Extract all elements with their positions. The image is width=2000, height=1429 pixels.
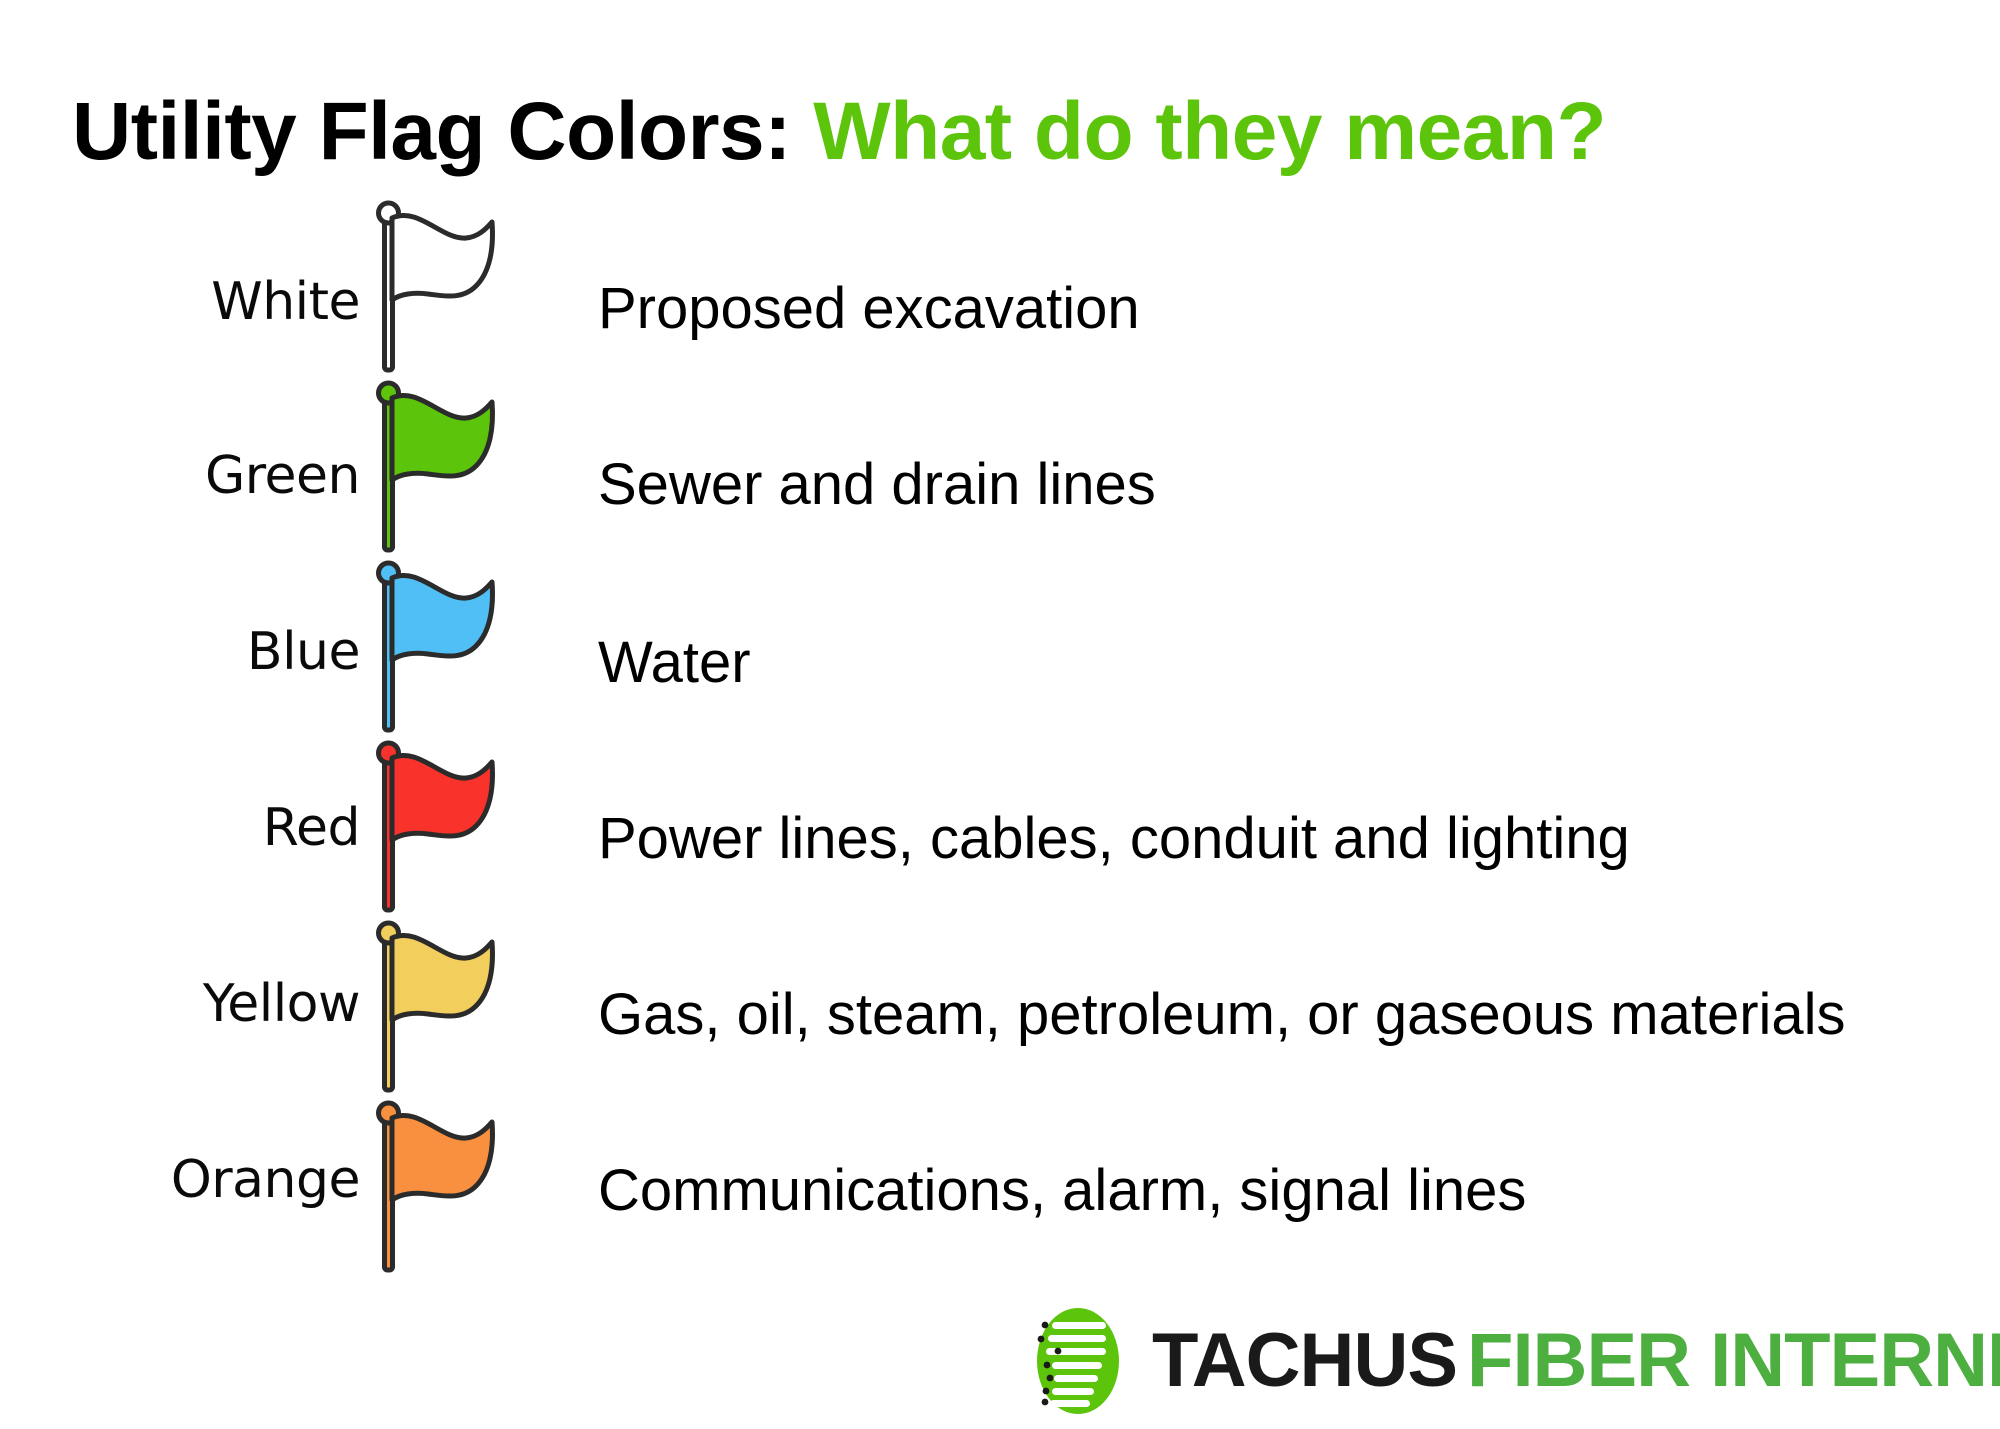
- flag-orange-icon: [366, 1096, 506, 1276]
- flag-description: Proposed excavation: [598, 218, 1140, 398]
- flag-color-label: White: [211, 212, 360, 392]
- flag-green-icon: [366, 376, 506, 556]
- page-title: Utility Flag Colors: What do they mean?: [72, 89, 1952, 176]
- tachus-logo: TACHUSFIBER INTERNET: [1022, 1306, 2000, 1416]
- logo-brand: TACHUS: [1152, 1318, 1457, 1403]
- logo-tagline: FIBER INTERNET: [1457, 1318, 2000, 1403]
- list-item: White Proposed excavation: [0, 196, 2000, 376]
- list-item: Blue Water: [0, 556, 2000, 736]
- page-title-lead: Utility Flag Colors:: [72, 86, 791, 177]
- flag-color-label: Green: [205, 386, 360, 566]
- flag-description: Sewer and drain lines: [598, 394, 1156, 574]
- flag-color-label: Orange: [171, 1090, 360, 1270]
- list-item: Orange Communications, alarm, signal lin…: [0, 1096, 2000, 1276]
- flag-color-label: Blue: [247, 562, 360, 742]
- flag-white-icon: [366, 196, 506, 376]
- flag-description: Communications, alarm, signal lines: [598, 1100, 1526, 1280]
- flag-color-label: Red: [263, 738, 360, 918]
- flag-description: Power lines, cables, conduit and lightin…: [598, 748, 1630, 928]
- flag-red-icon: [366, 736, 506, 916]
- page-title-highlight: What do they mean?: [813, 86, 1606, 177]
- flag-description: Water: [598, 572, 751, 752]
- tachus-fiber-mark-icon: [1022, 1306, 1134, 1416]
- flag-yellow-icon: [366, 916, 506, 1096]
- flag-description: Gas, oil, steam, petroleum, or gaseous m…: [598, 924, 1846, 1104]
- list-item: Green Sewer and drain lines: [0, 376, 2000, 556]
- flag-color-label: Yellow: [203, 914, 360, 1094]
- list-item: Red Power lines, cables, conduit and lig…: [0, 736, 2000, 916]
- flag-legend-list: White Proposed excavation Green Sewer an…: [0, 196, 2000, 1276]
- list-item: Yellow Gas, oil, steam, petroleum, or ga…: [0, 916, 2000, 1096]
- flag-blue-icon: [366, 556, 506, 736]
- logo-wordmark: TACHUSFIBER INTERNET: [1152, 1323, 2000, 1399]
